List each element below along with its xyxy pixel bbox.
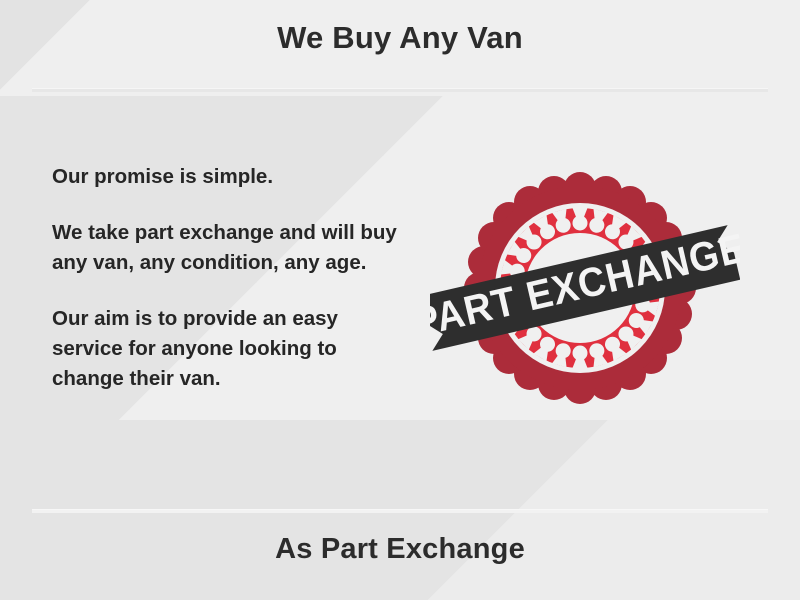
body-paragraph-3: Our aim is to provide an easy service fo…: [52, 304, 412, 394]
footer-title: As Part Exchange: [0, 533, 800, 566]
body-paragraph-1: Our promise is simple.: [52, 162, 412, 192]
footer-divider: [32, 509, 768, 513]
slide: We Buy Any Van Our promise is simple. We…: [0, 0, 800, 600]
part-exchange-stamp: PART EXCHANGE: [430, 165, 740, 410]
slide-header: We Buy Any Van: [0, 0, 800, 90]
page-title: We Buy Any Van: [0, 20, 800, 56]
part-exchange-stamp-graphic: PART EXCHANGE: [430, 165, 740, 410]
body-copy-block: Our promise is simple. We take part exch…: [52, 162, 412, 394]
body-paragraph-2: We take part exchange and will buy any v…: [52, 218, 412, 278]
header-divider: [32, 88, 768, 92]
